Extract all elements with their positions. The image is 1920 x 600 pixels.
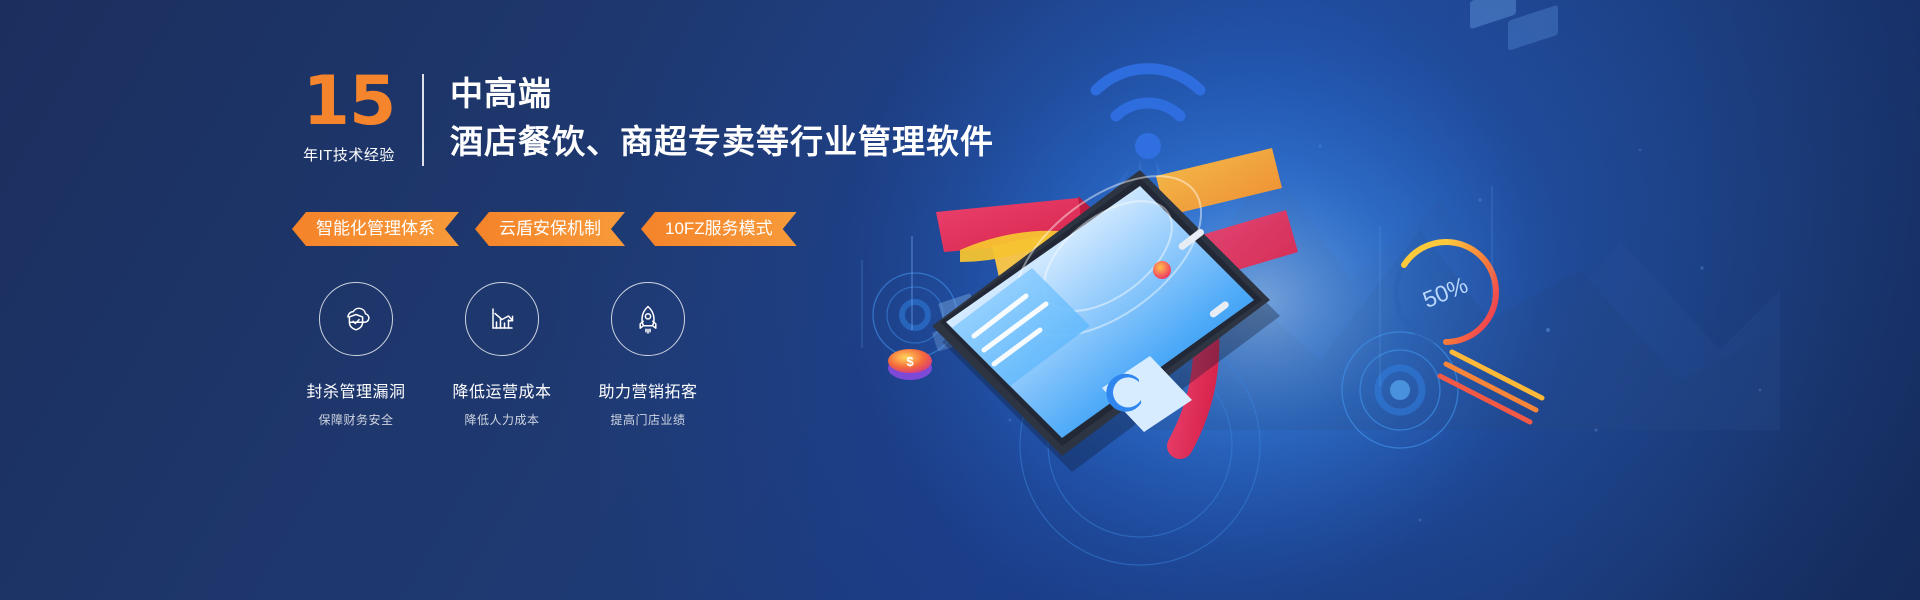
feature-icon-ring	[611, 282, 685, 356]
bar-chart-down-icon	[482, 299, 522, 339]
feature-subtitle: 保障财务安全	[283, 411, 429, 428]
hero-illustration: $ C 50%	[840, 0, 1920, 600]
feature-subtitle: 提高门店业绩	[575, 411, 721, 428]
feature-title: 封杀管理漏洞	[283, 378, 429, 402]
feature-title: 降低运营成本	[429, 378, 575, 402]
years-experience: 15 年IT技术经验	[290, 70, 422, 165]
coin-badge: $	[888, 349, 932, 380]
feature-item-security[interactable]: 封杀管理漏洞 保障财务安全	[283, 282, 429, 428]
promo-banner: 15 年IT技术经验 中高端 酒店餐饮、商超专卖等行业管理软件 智能化管理体系 …	[0, 0, 1920, 600]
radar-circles-right	[1342, 332, 1458, 448]
feature-icon-ring	[465, 282, 539, 356]
feature-subtitle: 降低人力成本	[429, 411, 575, 428]
tag-cloud-security[interactable]: 云盾安保机制	[475, 212, 625, 246]
feature-tag-list: 智能化管理体系 云盾安保机制 10FZ服务模式	[292, 212, 797, 246]
cloud-shield-icon	[336, 299, 376, 339]
screen-dot-marker	[1153, 261, 1171, 279]
feature-item-marketing[interactable]: 助力营销拓客 提高门店业绩	[575, 282, 721, 428]
feature-icon-ring	[319, 282, 393, 356]
coin-symbol: $	[906, 354, 914, 369]
years-number: 15	[290, 70, 408, 134]
feature-list: 封杀管理漏洞 保障财务安全 降低运营成本 降低人力成本	[283, 282, 721, 428]
vertical-divider	[422, 74, 424, 166]
feature-item-cost[interactable]: 降低运营成本 降低人力成本	[429, 282, 575, 428]
tag-intelligent-management[interactable]: 智能化管理体系	[292, 212, 459, 246]
years-caption: 年IT技术经验	[290, 144, 408, 165]
rocket-icon	[628, 299, 668, 339]
feature-title: 助力营销拓客	[575, 378, 721, 402]
tag-service-model[interactable]: 10FZ服务模式	[641, 212, 797, 246]
